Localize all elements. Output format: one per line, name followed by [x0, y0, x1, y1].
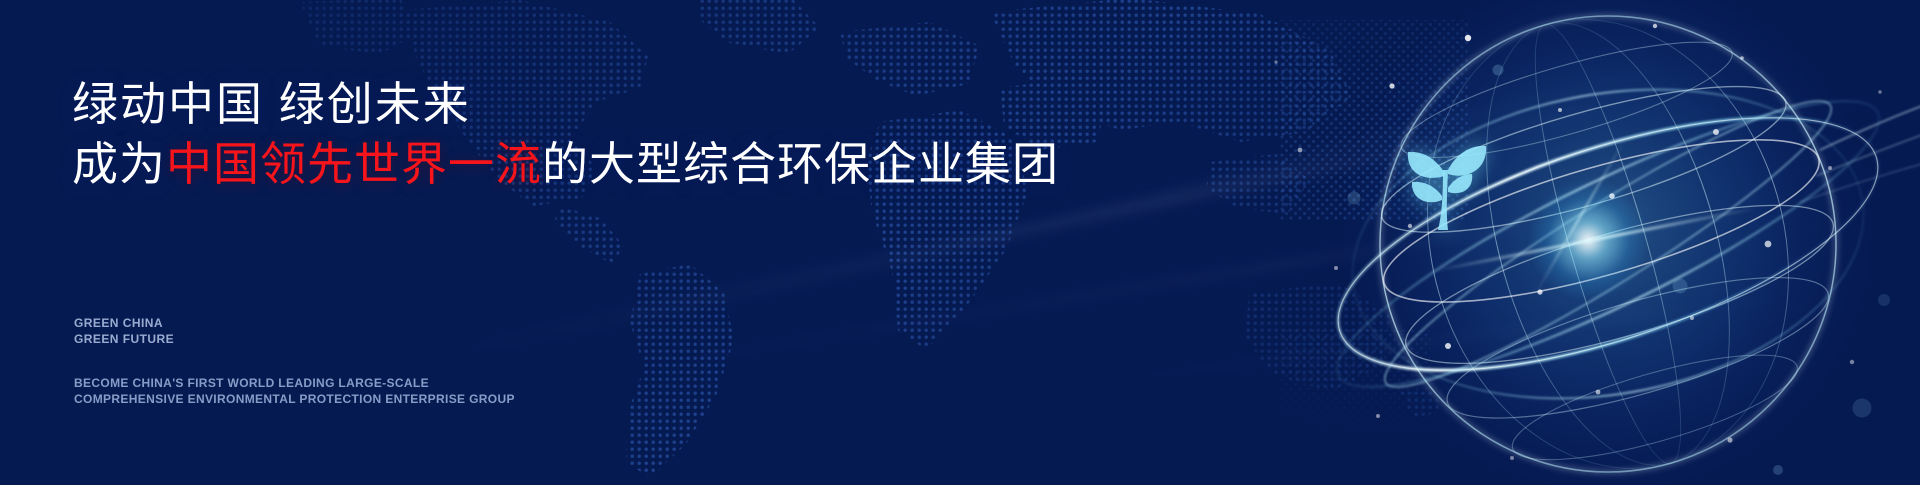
- particle-starfield: [0, 0, 1920, 485]
- hero-banner: 绿动中国 绿创未来 成为中国领先世界一流的大型综合环保企业集团 GREEN CH…: [0, 0, 1920, 485]
- headline-block: 绿动中国 绿创未来 成为中国领先世界一流的大型综合环保企业集团: [72, 78, 1252, 193]
- hex-dot-field: [1280, 0, 1920, 485]
- headline-line-2: 成为中国领先世界一流的大型综合环保企业集团: [72, 137, 1252, 192]
- light-ray: [1433, 207, 1758, 273]
- light-sweep: [567, 195, 1713, 378]
- english-tagline: GREEN CHINA GREEN FUTURE: [74, 316, 174, 348]
- dotted-world-map-background: [0, 0, 1450, 485]
- globe-graphic: [1260, 0, 1920, 485]
- english-subtitle: BECOME CHINA'S FIRST WORLD LEADING LARGE…: [74, 376, 515, 408]
- headline-highlight: 中国领先世界一流: [166, 138, 542, 190]
- english-subtitle-line-1: BECOME CHINA'S FIRST WORLD LEADING LARGE…: [74, 376, 515, 392]
- sprout-icon: [1386, 122, 1506, 242]
- light-ray: [1534, 139, 1626, 296]
- english-tagline-line-2: GREEN FUTURE: [74, 332, 174, 348]
- headline-prefix: 成为: [72, 138, 166, 190]
- english-subtitle-line-2: COMPREHENSIVE ENVIRONMENTAL PROTECTION E…: [74, 392, 515, 408]
- light-sweep: [983, 285, 1877, 397]
- english-tagline-line-1: GREEN CHINA: [74, 316, 174, 332]
- light-burst-core: [1528, 180, 1648, 300]
- headline-line-1: 绿动中国 绿创未来: [72, 78, 1252, 131]
- headline-suffix: 的大型综合环保企业集团: [542, 138, 1059, 190]
